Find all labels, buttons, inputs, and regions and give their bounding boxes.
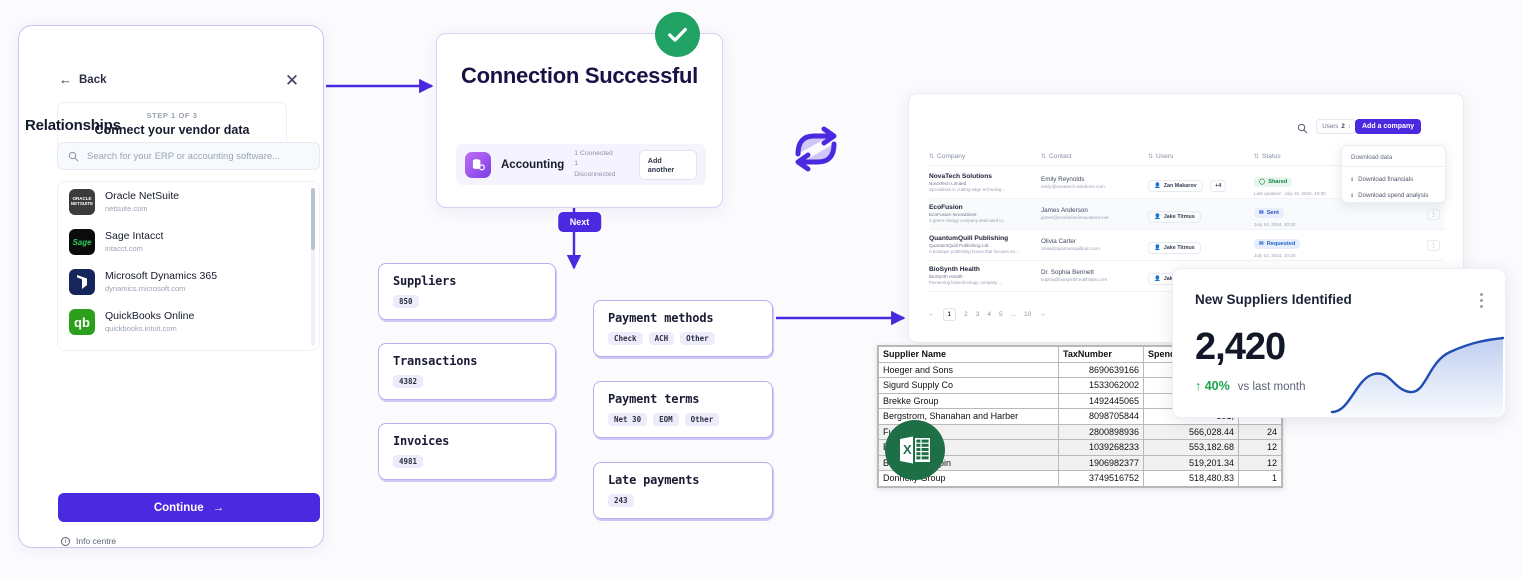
cell-company: BioSynth Health BioSynth Health Pioneeri… [929,266,1041,286]
data-card-payment-methods[interactable]: Payment methods Check ACH Other [593,300,773,357]
status-badge: ✉ Requested [1254,239,1300,249]
envelope-icon: ✉ [1259,241,1264,247]
chevron-down-icon: ↕ [1348,124,1350,130]
cell-tax: 1492445065 [1059,393,1144,409]
cell-inv: 1 [1239,471,1282,487]
list-item[interactable]: qb QuickBooks Online quickbooks.intuit.c… [58,302,319,342]
cell-supplier: Brekke Group [879,393,1059,409]
page-2-button[interactable]: 2 [964,311,968,318]
cell-spend: 518,480.83 [1144,471,1239,487]
next-button[interactable]: Next [558,212,602,232]
cell-tax: 8690639166 [1059,362,1144,378]
col-supplier-name[interactable]: Supplier Name [879,347,1059,363]
card-chips: 4981 [393,455,541,468]
page-next-button[interactable]: → [1039,311,1046,318]
cell-contact: Dr. Sophia Bennett sophia@biosynthhealth… [1041,269,1148,283]
search-input[interactable]: Search for your ERP or accounting softwa… [57,142,320,170]
download-financials-item[interactable]: ⭳ Download financials [1351,174,1413,185]
user-overflow-count[interactable]: +4 [1210,180,1226,192]
company-name: EcoFusion [929,204,1041,212]
continue-button[interactable]: Continue → [58,493,320,522]
close-icon[interactable]: ✕ [283,72,301,90]
contact-email: emily@novatech-solutions.com [1041,184,1148,190]
info-icon: i [61,537,70,546]
person-icon: 👤 [1154,183,1161,189]
status-badge: ◯ Shared [1254,177,1292,187]
data-card-transactions[interactable]: Transactions 4382 [378,343,556,400]
card-title: Suppliers [393,274,541,288]
menu-item-label: Download spend analysis [1358,192,1428,199]
col-tax-number[interactable]: TaxNumber [1059,347,1144,363]
canvas: ← Back ✕ STEP 1 OF 3 Connect your vendor… [0,0,1521,579]
relationships-title: Relationships [25,117,121,134]
modal-title: Connection Successful [437,63,722,89]
contact-email: olivia@quantumquillpub.com [1041,246,1148,252]
erp-name: QuickBooks Online [105,310,194,323]
cell-users: 👤 Jake Titmus [1148,236,1254,254]
list-item[interactable]: Sage Sage Intacct intacct.com [58,222,319,262]
table-row[interactable]: Donnelly Group 3749516752 518,480.83 1 [879,471,1282,487]
integration-row: Accounting 1 Connected 1 Disconnected Ad… [456,144,706,185]
svg-text:X: X [903,442,912,457]
download-icon: ⭳ [1351,190,1353,201]
contact-name: James Anderson [1041,207,1148,215]
erp-results-list[interactable]: ORACLENETSUITE Oracle NetSuite netsuite.… [57,181,320,351]
page-10-button[interactable]: 10 [1024,311,1031,318]
page-3-button[interactable]: 3 [976,311,980,318]
microsoft-dynamics-logo-icon [69,269,95,295]
cell-contact: James Anderson james@ecofusioninnovation… [1041,207,1148,221]
person-icon: 👤 [1154,214,1161,220]
sparkline-chart [1330,332,1505,417]
add-another-button[interactable]: Add another [639,150,697,180]
card-title: Late payments [608,473,758,487]
info-centre-link[interactable]: i Info centre [61,536,116,546]
new-suppliers-kpi-card: New Suppliers Identified 2,420 ↑ 40% vs … [1172,268,1506,418]
company-name: NovaTech Solutions [929,173,1041,181]
connect-vendor-panel: ← Back ✕ STEP 1 OF 3 Connect your vendor… [18,25,324,548]
check-circle-icon [655,12,700,57]
search-icon [68,151,79,162]
back-label: Back [79,74,107,86]
user-chip[interactable]: 👤 Jake Titmus [1148,211,1201,223]
company-name: BioSynth Health [929,266,1041,274]
card-chips: 850 [393,295,541,308]
contact-email: sophia@biosynthhealthlabs.com [1041,277,1148,283]
chip: Net 30 [608,413,647,426]
card-title: Payment methods [608,311,758,325]
page-ellipsis: ... [1011,311,1016,318]
disconnected-count: 1 Disconnected [574,159,619,180]
connected-count: 1 Connected [574,149,619,160]
kpi-delta: ↑ 40% vs last month [1195,379,1306,393]
data-card-payment-terms[interactable]: Payment terms Net 30 EOM Other [593,381,773,438]
column-label: Company [937,153,965,160]
erp-domain: netsuite.com [105,204,179,214]
arrow-right-icon: → [213,502,225,514]
list-item[interactable]: ORACLENETSUITE Oracle NetSuite netsuite.… [58,182,319,222]
card-chips: 243 [608,494,758,507]
users-filter-value: 2 [1341,123,1344,130]
cell-supplier: Hoeger and Sons [879,362,1059,378]
chip: Other [685,413,720,426]
continue-label: Continue [154,502,204,514]
download-menu-title: Download data [1351,154,1392,161]
kpi-value: 2,420 [1195,326,1285,369]
cell-company: QuantumQuill Publishing QuantumQuill Pub… [929,235,1041,255]
chip: EOM [653,413,679,426]
integration-label: Accounting [501,159,564,171]
chip: ACH [649,332,675,345]
cell-tax: 1906982377 [1059,455,1144,471]
column-label: Status [1262,153,1281,160]
erp-name: Sage Intacct [105,230,163,243]
page-5-button[interactable]: 5 [999,311,1003,318]
page-prev-button[interactable]: ← [928,311,935,318]
chip: 850 [393,295,419,308]
status-label: Sent [1267,210,1279,216]
status-date: July 10, 2024, 10:30 [1254,222,1374,227]
company-name: QuantumQuill Publishing [929,235,1041,243]
cell-company: EcoFusion EcoFusion Innovations A green … [929,204,1041,224]
status-label: Shared [1268,179,1287,185]
download-icon: ⭳ [1351,174,1353,185]
column-header-contact[interactable]: ⇅ Contact [1041,153,1148,160]
users-filter-label: Users [1322,123,1338,130]
user-chip[interactable]: 👤 Zan Makarov [1148,180,1203,192]
cell-contact: Emily Reynolds emily@novatech-solutions.… [1041,176,1148,190]
cell-contact: Olivia Carter olivia@quantumquillpub.com [1041,238,1148,252]
row-menu-button[interactable]: ⋮ [1427,209,1440,220]
company-desc: Specialises in cutting-edge technolog... [929,187,1041,193]
arrow-left-icon: ← [59,73,72,86]
list-item[interactable]: Microsoft Dynamics 365 dynamics.microsof… [58,262,319,302]
card-chips: Net 30 EOM Other [608,413,758,426]
kpi-title: New Suppliers Identified [1195,292,1352,307]
excel-icon: X [885,420,945,480]
erp-domain: intacct.com [105,244,163,254]
cell-inv: 12 [1239,455,1282,471]
cell-status: ✉ Sent July 10, 2024, 10:30 [1254,201,1374,227]
sage-intacct-logo-icon: Sage [69,229,95,255]
status-date: July 10, 2024, 10:30 [1254,253,1374,258]
chip: 4382 [393,375,423,388]
company-desc: Pioneering biotechnology company ... [929,280,1041,286]
row-menu-button[interactable]: ⋮ [1427,240,1440,251]
cell-company: NovaTech Solutions NovaTech Limited Spec… [929,173,1041,193]
search-icon[interactable] [1297,121,1308,139]
company-desc: A green energy company dedicated to... [929,218,1041,224]
card-chips: 4382 [393,375,541,388]
cell-tax: 1533062002 [1059,378,1144,394]
add-company-button[interactable]: Add a company [1355,119,1421,134]
contact-name: Emily Reynolds [1041,176,1148,184]
back-button[interactable]: ← Back [59,73,107,86]
person-icon: 👤 [1154,245,1161,251]
search-placeholder: Search for your ERP or accounting softwa… [87,151,280,162]
user-chip[interactable]: 👤 Jake Titmus [1148,242,1201,254]
cell-tax: 2800898936 [1059,424,1144,440]
sort-icon: ⇅ [1254,153,1258,160]
chip: 4981 [393,455,423,468]
chip: Other [680,332,715,345]
cell-tax: 3749516752 [1059,471,1144,487]
connection-successful-modal: Connection Successful Accounting 1 Conne… [436,33,723,208]
data-card-late-payments[interactable]: Late payments 243 [593,462,773,519]
user-name: Zan Makarov [1164,183,1197,189]
kpi-delta-value: ↑ 40% [1195,379,1230,393]
arrow-up-icon: ↑ [1195,379,1201,393]
quickbooks-logo-icon: qb [69,309,95,335]
scrollbar-thumb[interactable] [311,188,315,250]
cell-spend: 566,028.44 [1144,424,1239,440]
cell-inv: 12 [1239,440,1282,456]
sort-icon: ⇅ [1041,153,1045,160]
data-card-invoices[interactable]: Invoices 4981 [378,423,556,480]
menu-item-label: Download financials [1358,176,1413,183]
column-header-company[interactable]: ⇅ Company [929,153,1041,160]
column-label: Contact [1049,153,1072,160]
company-desc: A boutique publishing house that focuses… [929,249,1041,255]
download-spend-analysis-item[interactable]: ⭳ Download spend analysis [1351,190,1428,201]
chip: Check [608,332,643,345]
cell-inv: 24 [1239,424,1282,440]
pagination: ← 1 2 3 4 5 ... 10 → [928,308,1046,321]
column-label: Users [1156,153,1173,160]
contact-email: james@ecofusioninnovations.net [1041,215,1148,221]
card-title: Invoices [393,434,541,448]
cell-users: 👤 Zan Makarov +4 [1148,174,1254,192]
status-badge: ✉ Sent [1254,208,1284,218]
shared-icon: ◯ [1259,179,1265,185]
card-title: Payment terms [608,392,758,406]
envelope-icon: ✉ [1259,210,1264,216]
sort-icon: ⇅ [1148,153,1152,160]
table-row[interactable]: QuantumQuill Publishing QuantumQuill Pub… [929,230,1444,261]
data-card-suppliers[interactable]: Suppliers 850 [378,263,556,320]
cell-tax: 8098705844 [1059,409,1144,425]
page-4-button[interactable]: 4 [987,311,991,318]
table-row[interactable]: EcoFusion EcoFusion Innovations A green … [929,199,1444,230]
erp-domain: dynamics.microsoft.com [105,284,217,294]
connection-stats: 1 Connected 1 Disconnected [574,149,619,181]
sync-arrows-icon [788,124,844,179]
cell-spend: 519,201.34 [1144,455,1239,471]
user-name: Jake Titmus [1164,214,1195,220]
user-name: Jake Titmus [1164,245,1195,251]
cell-spend: 553,182.68 [1144,440,1239,456]
page-1-button[interactable]: 1 [943,308,957,321]
status-label: Requested [1267,241,1296,247]
oracle-netsuite-logo-icon: ORACLENETSUITE [69,189,95,215]
cell-status: ✉ Requested July 10, 2024, 10:30 [1254,232,1374,258]
cell-supplier: Sigurd Supply Co [879,378,1059,394]
cell-tax: 1039268233 [1059,440,1144,456]
kpi-delta-note: vs last month [1238,381,1306,393]
erp-domain: quickbooks.intuit.com [105,324,194,334]
sort-icon: ⇅ [929,153,933,160]
card-chips: Check ACH Other [608,332,758,345]
card-title: Transactions [393,354,541,368]
users-filter-dropdown[interactable]: Users 2 ↕ [1316,119,1356,134]
kpi-delta-pct: 40% [1205,379,1230,393]
erp-name: Microsoft Dynamics 365 [105,270,217,283]
chip: 243 [608,494,634,507]
more-vertical-icon[interactable] [1480,293,1483,311]
download-data-menu: Download data ⭳ Download financials ⭳ Do… [1341,145,1446,203]
erp-name: Oracle NetSuite [105,190,179,203]
contact-name: Dr. Sophia Bennett [1041,269,1148,277]
accounting-icon [465,152,491,178]
person-icon: 👤 [1154,276,1161,282]
info-centre-label: Info centre [76,536,116,546]
cell-users: 👤 Jake Titmus [1148,205,1254,223]
divider [1342,166,1445,167]
column-header-users[interactable]: ⇅ Users [1148,153,1254,160]
contact-name: Olivia Carter [1041,238,1148,246]
